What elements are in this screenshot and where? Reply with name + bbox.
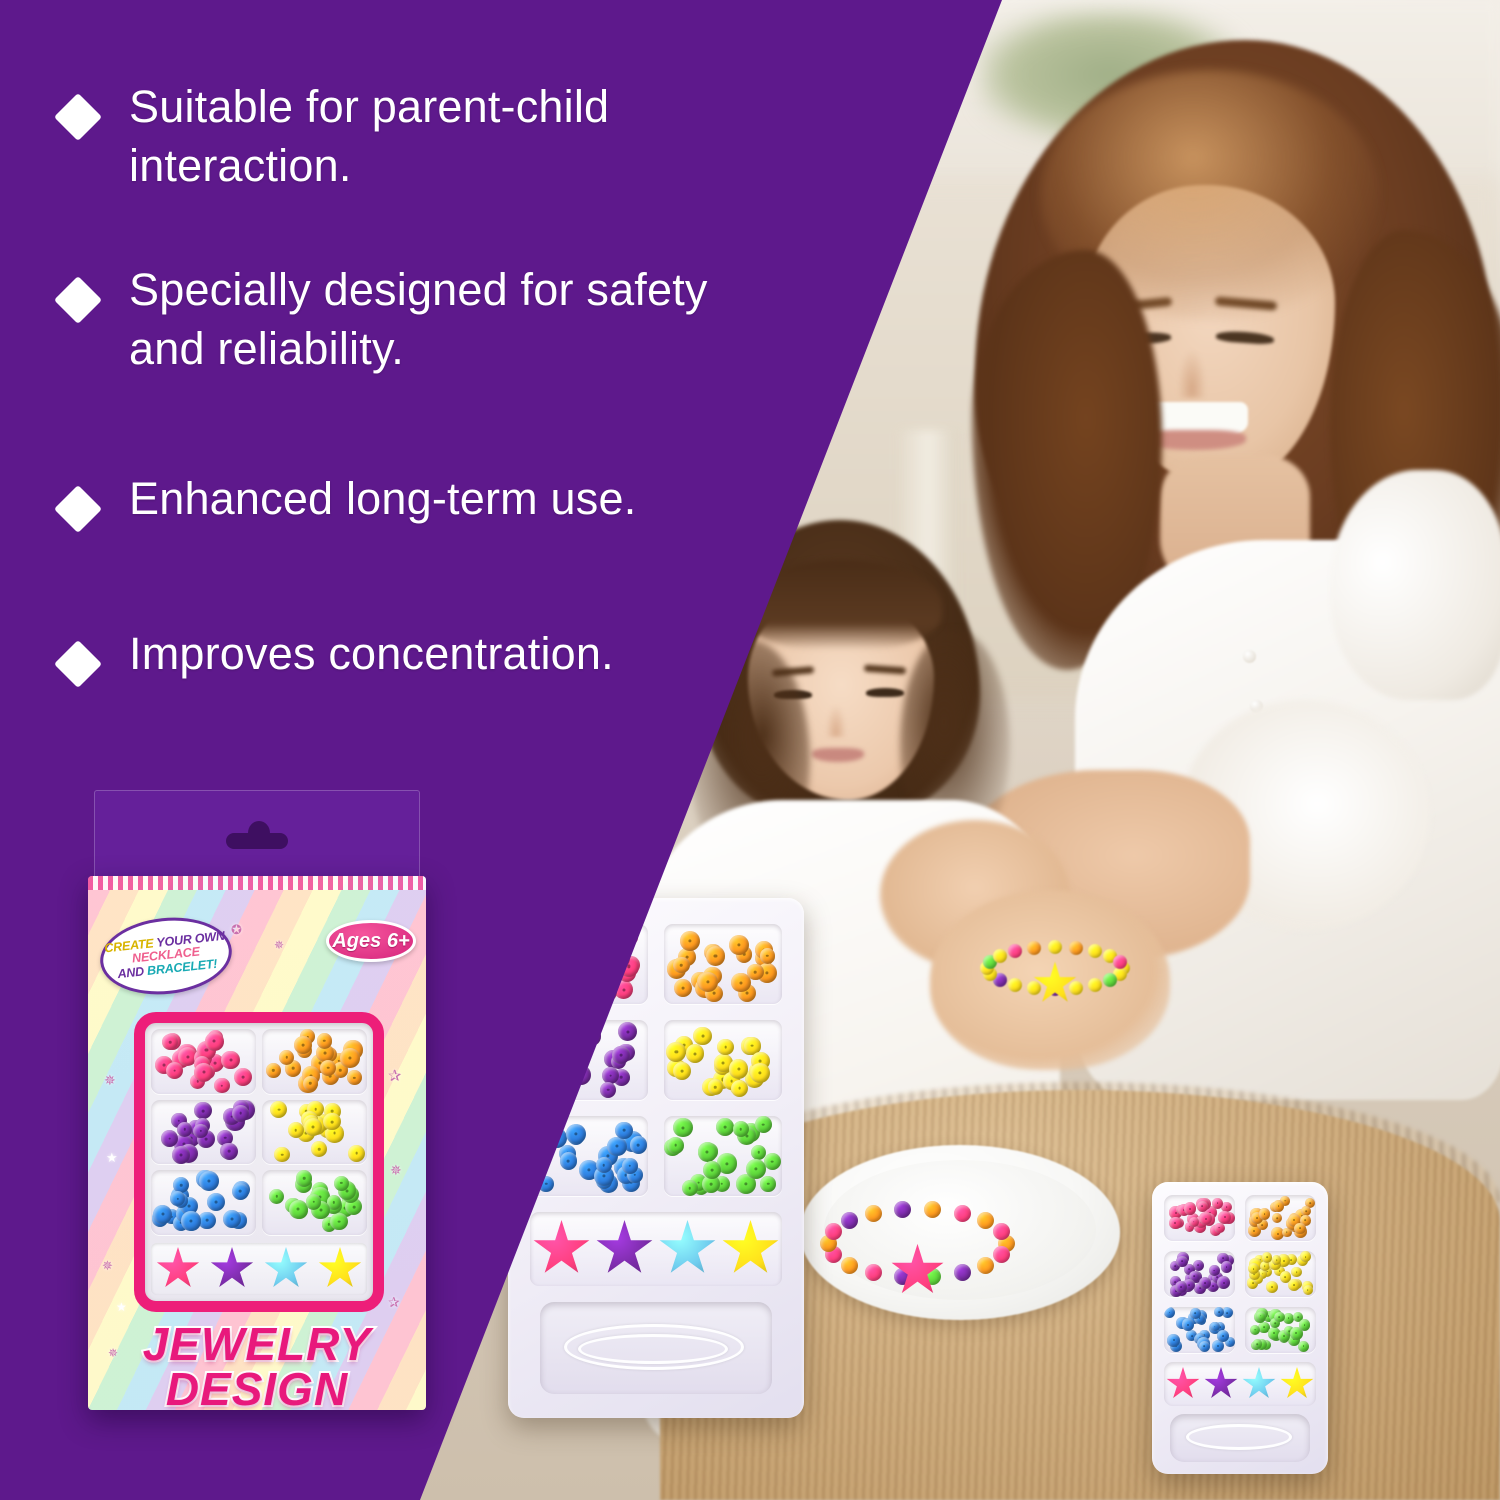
bead <box>289 1200 308 1219</box>
bead <box>221 1143 238 1160</box>
bead-compartment-orange <box>664 924 782 1004</box>
bead <box>347 1070 362 1085</box>
bead <box>193 1124 208 1139</box>
age-badge-label: Ages 6+ <box>332 930 409 953</box>
bead <box>1164 1307 1175 1318</box>
bead-compartments <box>1164 1195 1316 1353</box>
star-sparkle-icon: ✰ <box>388 1066 401 1086</box>
diamond-bullet-icon <box>54 485 102 533</box>
bead <box>1253 1339 1263 1349</box>
bead <box>673 1118 692 1137</box>
bracelet-bead <box>1048 940 1062 954</box>
bead <box>166 1062 183 1079</box>
bead <box>729 935 749 955</box>
bead-compartment-orange <box>1245 1195 1316 1241</box>
bracelet-bead <box>1069 981 1083 995</box>
bullet-item: Enhanced long-term use. <box>55 470 755 529</box>
bead <box>348 1145 365 1162</box>
bead-compartment-blue <box>1164 1307 1235 1353</box>
bead <box>1169 1217 1182 1230</box>
box-front-panel: ★ ✪ ✵ ✵ ★ ✰ ✵ ✵ ★ ✰ ✵ CREATE YOUR OWN NE… <box>88 876 426 1410</box>
bead <box>330 1213 348 1231</box>
bead <box>1291 1267 1301 1277</box>
star-bead-yellow <box>1280 1367 1314 1401</box>
bead-tray-small <box>1152 1182 1328 1474</box>
bracelet-bead <box>993 1223 1010 1240</box>
bead <box>294 1036 312 1054</box>
bead <box>667 1137 684 1154</box>
bullet-text: Improves concentration. <box>129 625 614 684</box>
bracelet-bead <box>954 1264 971 1281</box>
box-hang-tab <box>94 790 420 878</box>
star-sparkle-icon: ✵ <box>274 938 284 952</box>
bullet-text: Specially designed for safety and reliab… <box>129 261 755 378</box>
dress-button <box>1243 650 1256 663</box>
star-bead-compartment <box>1164 1362 1316 1406</box>
elastic-cord <box>1186 1424 1292 1450</box>
bead <box>1262 1252 1272 1262</box>
bead <box>207 1193 225 1211</box>
star-bead-yellow <box>318 1247 362 1291</box>
bead <box>266 1063 281 1078</box>
bead <box>755 1116 772 1133</box>
bead <box>1260 1261 1270 1271</box>
bracelet-bead <box>924 1201 941 1218</box>
create-your-own-badge: CREATE YOUR OWN NECKLACE AND BRACELET! <box>96 911 235 1000</box>
bead <box>706 946 725 965</box>
bead <box>1197 1201 1208 1212</box>
bead <box>1210 1322 1220 1332</box>
bead-compartment-yellow <box>664 1020 782 1100</box>
bullet-text: Suitable for parent-child interaction. <box>129 78 755 195</box>
bead-compartment-green <box>664 1116 782 1196</box>
bead <box>1184 1202 1196 1214</box>
bead <box>221 1051 240 1070</box>
bead <box>1182 1318 1194 1330</box>
bracelet-bead <box>1008 978 1022 992</box>
bead <box>731 1080 749 1098</box>
bracelet-in-hands <box>980 940 1130 996</box>
bead <box>1217 1330 1229 1342</box>
bead-compartment-pink <box>151 1029 256 1094</box>
feature-bullet-list: Suitable for parent-child interaction. S… <box>55 78 755 743</box>
star-bead-pink <box>1166 1367 1200 1401</box>
bead-compartment-blue <box>151 1170 256 1235</box>
woman-nose <box>1178 350 1206 398</box>
star-sparkle-icon: ✵ <box>104 1072 116 1089</box>
bead <box>750 1063 770 1083</box>
bead <box>1217 1276 1230 1289</box>
bead <box>232 1183 249 1200</box>
bracelet-bead <box>954 1205 971 1222</box>
bead <box>334 1176 349 1191</box>
age-badge: Ages 6+ <box>326 920 416 962</box>
child-eye-right <box>866 688 904 697</box>
bead <box>1290 1327 1302 1339</box>
bead-compartment-green <box>262 1170 367 1235</box>
box-product-title: JEWELRY DESIGN <box>88 1322 426 1410</box>
bead <box>1189 1217 1199 1227</box>
bead <box>612 1046 630 1064</box>
bead <box>1199 1341 1210 1352</box>
elastic-cord <box>578 1334 728 1364</box>
bead <box>1259 1208 1270 1219</box>
star-sparkle-icon: ✪ <box>231 922 242 938</box>
bead <box>317 1033 333 1049</box>
bead <box>717 1039 734 1056</box>
bead-compartment-purple <box>1164 1251 1235 1297</box>
star-bead-compartment <box>530 1212 782 1286</box>
bead <box>214 1078 229 1093</box>
bead <box>1167 1334 1180 1347</box>
bead <box>600 1082 616 1098</box>
bead <box>205 1032 224 1051</box>
star-bead-light-blue <box>659 1220 717 1278</box>
product-packaging-box: ★ ✪ ✵ ✵ ★ ✰ ✵ ✵ ★ ✰ ✵ CREATE YOUR OWN NE… <box>88 790 426 1410</box>
bead <box>1272 1213 1282 1223</box>
bracelet-bead <box>1027 981 1041 995</box>
bracelet-bead <box>825 1223 842 1240</box>
star-bead-purple <box>596 1220 654 1278</box>
bead <box>194 1063 213 1082</box>
bead <box>622 1158 638 1174</box>
star-sparkle-icon: ★ <box>106 1150 118 1166</box>
bead <box>1175 1281 1187 1293</box>
bracelet-bead <box>977 1257 994 1274</box>
bead <box>673 1062 691 1080</box>
bead <box>716 1118 734 1136</box>
bracelet-bead <box>1088 944 1102 958</box>
bracelet-bead <box>865 1264 882 1281</box>
bead <box>288 1122 304 1138</box>
bead <box>686 1044 705 1063</box>
bead <box>708 1079 724 1095</box>
bead <box>232 1105 249 1122</box>
bead <box>153 1205 172 1224</box>
bead <box>1294 1223 1305 1234</box>
bead <box>1209 1265 1220 1276</box>
bead <box>680 931 700 951</box>
bracelet-bead <box>894 1201 911 1218</box>
star-sparkle-icon: ★ <box>116 1300 127 1314</box>
box-bead-compartments <box>151 1029 367 1235</box>
woman-dress-shoulder <box>1330 470 1500 700</box>
bead <box>1218 1211 1231 1224</box>
bracelet-bead <box>977 1212 994 1229</box>
bracelet-bead <box>993 949 1007 963</box>
bead <box>269 1189 284 1204</box>
bead <box>747 964 764 981</box>
bead-compartment-purple <box>151 1100 256 1165</box>
bracelet-bead <box>1008 944 1022 958</box>
bead <box>618 1022 637 1041</box>
bullet-text: Enhanced long-term use. <box>129 470 636 529</box>
bead <box>693 1027 711 1045</box>
bead <box>1300 1251 1311 1262</box>
box-top-stripe <box>88 876 426 890</box>
bead-compartment-green <box>1245 1307 1316 1353</box>
bead <box>673 957 689 973</box>
title-line-2: DESIGN <box>88 1367 426 1410</box>
diamond-bullet-icon <box>54 276 102 324</box>
bead <box>311 1141 327 1157</box>
bead <box>161 1130 178 1147</box>
bead <box>666 1042 686 1062</box>
bracelet-bead <box>841 1212 858 1229</box>
star-sparkle-icon: ✵ <box>102 1258 113 1274</box>
star-bead-pink <box>156 1247 200 1291</box>
bead <box>1266 1281 1278 1293</box>
bead-compartment-orange <box>262 1029 367 1094</box>
bead <box>1273 1200 1284 1211</box>
bead <box>1190 1308 1201 1319</box>
bracelet-bead <box>1088 978 1102 992</box>
bead <box>1303 1285 1313 1295</box>
bead <box>674 979 692 997</box>
bracelet-bead <box>1027 941 1041 955</box>
bracelet-on-plate <box>820 1200 1015 1286</box>
bead <box>1256 1311 1266 1321</box>
bead <box>296 1170 312 1186</box>
bead <box>1250 1325 1260 1335</box>
bead <box>274 1147 290 1163</box>
star-sparkle-icon: ✵ <box>390 1162 402 1179</box>
bead <box>1214 1223 1224 1233</box>
bead <box>340 1048 360 1068</box>
bead <box>181 1211 201 1231</box>
bead <box>194 1102 211 1119</box>
bead <box>764 1153 781 1170</box>
bead <box>234 1068 252 1086</box>
bead <box>177 1122 192 1137</box>
bead <box>1221 1261 1233 1273</box>
star-bead-yellow <box>722 1220 780 1278</box>
bead <box>1298 1341 1310 1353</box>
bead <box>323 1113 340 1130</box>
bead-compartment-yellow <box>262 1100 367 1165</box>
star-bead-purple <box>1204 1367 1238 1401</box>
bead <box>733 1121 749 1137</box>
product-marketing-image: Suitable for parent-child interaction. S… <box>0 0 1500 1500</box>
box-star-compartment <box>151 1243 367 1295</box>
bead <box>566 1124 586 1144</box>
bullet-item: Improves concentration. <box>55 625 755 684</box>
bead <box>306 1194 321 1209</box>
title-line-1: JEWELRY <box>88 1322 426 1367</box>
bead <box>1288 1279 1300 1291</box>
bead <box>703 1161 721 1179</box>
child-nose <box>826 705 846 737</box>
bead <box>1199 1277 1211 1289</box>
bead <box>199 1171 219 1191</box>
bead <box>615 1122 632 1139</box>
bracelet-bead <box>1113 955 1127 969</box>
star-bead-light-blue <box>264 1247 308 1291</box>
bracelet-bead <box>865 1205 882 1222</box>
bracelet-bead <box>993 1246 1010 1263</box>
bead <box>607 1137 627 1157</box>
bead-compartment-pink <box>1164 1195 1235 1241</box>
bead <box>630 1136 648 1154</box>
euro-slot-hook-icon <box>226 821 288 851</box>
child-mouth <box>812 748 864 762</box>
diamond-bullet-icon <box>54 639 102 687</box>
star-bead-pink <box>533 1220 591 1278</box>
box-display-window <box>134 1012 384 1312</box>
bead-compartment-yellow <box>1245 1251 1316 1297</box>
cord-compartment <box>1170 1414 1310 1462</box>
bracelet-bead <box>841 1257 858 1274</box>
bead <box>698 1142 718 1162</box>
bracelet-bead <box>1069 941 1083 955</box>
star-sparkle-icon: ✰ <box>388 1294 400 1311</box>
star-bead-purple <box>210 1247 254 1291</box>
bead <box>760 948 776 964</box>
bullet-item: Suitable for parent-child interaction. <box>55 78 755 195</box>
bead <box>760 1176 776 1192</box>
diamond-bullet-icon <box>54 93 102 141</box>
bead <box>1176 1256 1187 1267</box>
cord-compartment <box>540 1302 772 1394</box>
bead <box>682 1180 698 1196</box>
bead <box>270 1101 287 1118</box>
bead <box>1274 1312 1285 1323</box>
star-bead-light-blue <box>1242 1367 1276 1401</box>
bullet-item: Specially designed for safety and reliab… <box>55 261 755 378</box>
bead <box>698 972 718 992</box>
bead <box>560 1152 578 1170</box>
